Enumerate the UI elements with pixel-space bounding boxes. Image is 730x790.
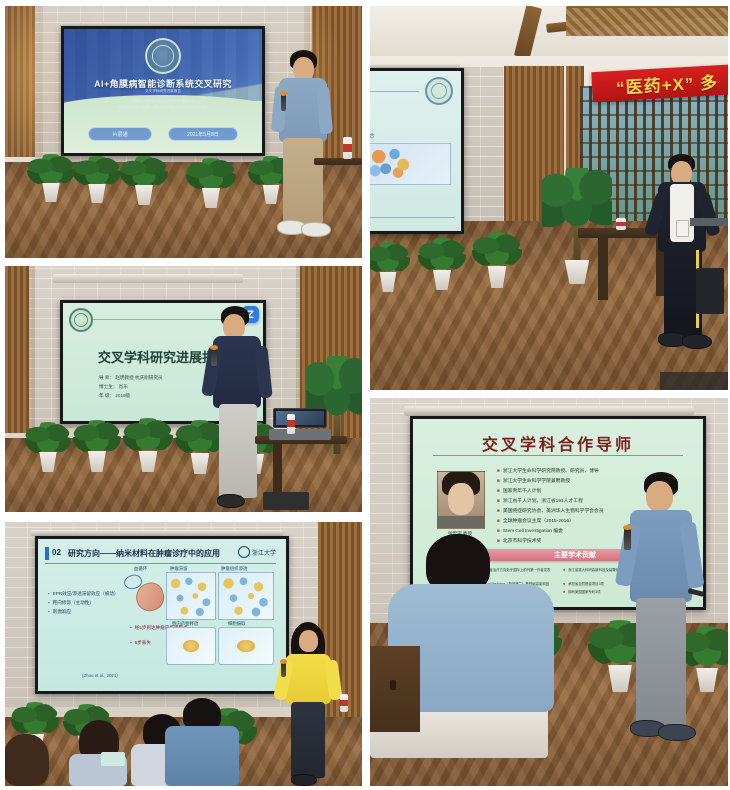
slide-authors: 汇报人：研究生 博士生指导教师 课题小组 (64, 98, 262, 103)
slide-bullet: 美国癌症研究协会、美洲华人生物科学学会会员 (497, 507, 604, 514)
microphone (281, 662, 286, 677)
slide-bullet: Stem Cell Investigation 编委 (497, 527, 563, 534)
slide-bullet: 全球肿瘤会议主席（2015-2016） (497, 517, 574, 524)
potted-plant (370, 242, 410, 292)
shoe (301, 222, 331, 237)
microphone (624, 528, 631, 550)
presenter (277, 622, 349, 786)
tea-set (616, 218, 626, 230)
presenter (646, 154, 724, 362)
projector-screen: AI+角膜病智能诊断系统交叉研究 交叉学科研究进展报告 汇报人：研究生 博士生指… (61, 26, 265, 156)
slide-content: 增加： 医疗纠纷： 对于医护人员及患者意义重合 避免损伤发生： 构成像质量不佳： (370, 71, 461, 231)
potted-plant (120, 156, 168, 205)
figure-caption: 血循环 (134, 566, 147, 572)
photo-panel-bottom-left[interactable]: 02 研究方向——纳米材料在肿瘤诊疗中的应用 浙江大学 EPR效应/渗透滞留效应… (5, 522, 362, 786)
photo-collage: AI+角膜病智能诊断系统交叉研究 交叉学科研究进展报告 汇报人：研究生 博士生指… (0, 0, 730, 790)
slide-meta-student: 博士生： 肖乐 (99, 384, 128, 390)
slide-bullet: 靶向修饰（主动性） (48, 600, 94, 606)
laptop (273, 408, 327, 440)
slide-bullet: 浙江大学生命科学研究院教授、研究员、博导 (497, 467, 599, 474)
zju-logo-icon: 浙江大学 (238, 546, 276, 558)
water-bottle (343, 137, 352, 159)
slide-bullet: 刺激响应 (48, 609, 71, 615)
presenter (203, 306, 279, 512)
water-bottle (287, 414, 295, 434)
potted-plant (123, 418, 173, 472)
microphone (281, 94, 286, 111)
slide-bullet: 浙江省千人计划、浙江省151人才工程 (497, 497, 583, 504)
photo-panel-top-left[interactable]: AI+角膜病智能诊断系统交叉研究 交叉学科研究进展报告 汇报人：研究生 博士生指… (5, 6, 362, 258)
side-table (314, 158, 362, 165)
projector-screen: 增加： 医疗纠纷： 对于医护人员及患者意义重合 避免损伤发生： 构成像质量不佳： (370, 68, 464, 234)
zju-brand-text: 浙江大学 (252, 548, 276, 557)
slide-citation: (Zhou et al., 2021) (82, 673, 118, 678)
name-badge (676, 220, 689, 237)
projector-screen: 02 研究方向——纳米材料在肿瘤诊疗中的应用 浙江大学 EPR效应/渗透滞留效应… (35, 536, 289, 694)
slide-subtitle: 交叉学科研究进展报告 (64, 89, 262, 94)
potted-plant (73, 420, 121, 472)
potted-plant (418, 238, 466, 290)
slide-line-3: 对于医护人员及患者意义重合 (370, 133, 374, 139)
slide-pill-date: 2021年5月8日 (168, 127, 238, 141)
shoe (217, 494, 245, 508)
shoe (291, 774, 317, 786)
photo-panel-bottom-right[interactable]: 交叉学科合作导师 张宏宇 教授 生命科学研究院 浙江大学生命科学研究院教授、研究… (370, 398, 728, 786)
slide-research-direction: 02 研究方向——纳米材料在肿瘤诊疗中的应用 浙江大学 EPR效应/渗透滞留效应… (38, 539, 286, 691)
slide-meta-year: 年 级： 2019级 (99, 393, 130, 399)
slide-ai-cornea: AI+角膜病智能诊断系统交叉研究 交叉学科研究进展报告 汇报人：研究生 博士生指… (64, 29, 262, 153)
slide-title: 研究方向——纳米材料在肿瘤诊疗中的应用 (68, 548, 220, 559)
slide-affiliation: 医药交叉 X 多学科团队 · 第一附属医院 · 计算机科学与技术学院 (64, 104, 262, 109)
presenter (622, 472, 718, 772)
presenter (263, 50, 339, 250)
water-bottle (340, 694, 348, 712)
slide-meta-advisor: 导 师： 赵明教授 杭庆刚研究员 (99, 375, 163, 381)
audience-member (165, 698, 239, 786)
audience-member (5, 734, 57, 786)
slide-pill-presenter: 片层通 (88, 127, 152, 141)
potted-plant (25, 422, 71, 472)
projector-roller (53, 274, 243, 283)
potted-plant (27, 154, 75, 202)
potted-plant (73, 156, 121, 203)
university-emblem-icon (425, 77, 453, 105)
slide-bullet: EPR效应/渗透滞留效应（被动） (48, 591, 119, 597)
potted-plant (186, 158, 236, 208)
university-emblem-icon (145, 38, 181, 74)
potted-plant (472, 232, 522, 288)
slide-note: 5步丢失 (130, 640, 151, 646)
university-emblem-icon (69, 308, 93, 332)
photo-panel-middle-left[interactable]: 交叉学科研究进展报告 导 师： 赵明教授 杭庆刚研究员 博士生： 肖乐 年 级：… (5, 266, 362, 512)
event-banner-text: “医药+X” 多 (615, 68, 718, 99)
slide-section-number: 02 (52, 548, 61, 557)
shoe (682, 334, 712, 349)
slide-title: 交叉学科合作导师 (413, 431, 703, 455)
shoe (658, 724, 696, 741)
slide-bullet: 国家青年千人计划 (497, 487, 541, 494)
mentor-portrait (437, 471, 485, 529)
slide-bullet: 浙江大学生命科学学院兼聘教授 (497, 477, 570, 484)
microphone (211, 348, 217, 366)
photo-panel-top-right[interactable]: “医药+X” 多 增加： 医疗纠纷： 对于医护人员及患者意义重合 (370, 6, 728, 390)
